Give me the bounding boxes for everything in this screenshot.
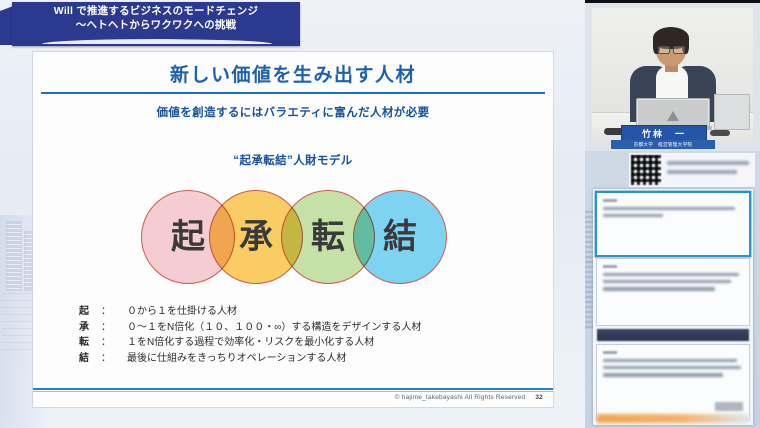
- qr-header-strip: [629, 153, 755, 187]
- session-title-line1: Will で推進するビジネスのモードチェンジ: [12, 4, 300, 18]
- bullet-row: 承 ： ０～１をN倍化（１０、１００・∞）する構造をデザインする人材: [79, 320, 539, 336]
- bullet-separator: ：: [101, 335, 127, 351]
- blurred-text-line: [603, 207, 735, 210]
- shared-document-panel[interactable]: [585, 151, 760, 428]
- bullet-row: 起 ： ０から１を仕掛ける人材: [79, 304, 539, 320]
- bullet-key: 承: [79, 320, 101, 336]
- laptop-logo-icon: [667, 111, 679, 121]
- venn-circle-ketsu: 結: [353, 190, 447, 284]
- bullet-text: ０から１を仕掛ける人材: [127, 304, 539, 320]
- bullet-key: 結: [79, 351, 101, 367]
- speaker-video-tile[interactable]: 竹林 一 京都大学 経営管理大学院: [585, 3, 760, 151]
- venn-circle-label: 転: [311, 220, 345, 254]
- slide-title: 新しい価値を生み出す人材: [33, 60, 553, 87]
- speaker-eye-left: [658, 46, 670, 54]
- footer-divider-secondary: [33, 391, 553, 392]
- session-title-line2: ～ヘトヘトからワクワクへの挑戦: [12, 18, 300, 32]
- ribbon-text: Will で推進するビジネスのモードチェンジ ～ヘトヘトからワクワクへの挑戦: [12, 4, 300, 32]
- page-number: 32: [535, 394, 543, 401]
- slide-subtitle: 価値を創造するにはバラエティに富んだ人材が必要: [33, 104, 553, 120]
- speaker-affiliation: 京都大学 経営管理大学院: [634, 142, 693, 148]
- venn-circle-label: 承: [239, 220, 273, 254]
- note-card-selected[interactable]: [597, 193, 749, 255]
- panel-toolbar-blurred[interactable]: [597, 329, 749, 341]
- blurred-text-line: [603, 287, 715, 290]
- video-frame: [592, 8, 753, 141]
- bullet-key: 転: [79, 335, 101, 351]
- blurred-text-line: [603, 366, 741, 369]
- model-label: “起承転結”人財モデル: [33, 152, 553, 168]
- slide-card: 新しい価値を生み出す人材 価値を創造するにはバラエティに富んだ人材が必要 “起承…: [33, 52, 553, 407]
- bullet-row: 転 ： １をN倍化する過程で効率化・リスクを最小化する人材: [79, 335, 539, 351]
- blurred-label: [603, 265, 617, 268]
- speaker-name: 竹林 一: [642, 127, 686, 140]
- copyright-text: © hajime_takebayashi All Rights Reserved: [395, 394, 526, 401]
- qr-caption-blurred: [667, 161, 751, 179]
- qr-code-icon: [631, 155, 661, 185]
- bullet-text: １をN倍化する過程で効率化・リスクを最小化する人材: [127, 335, 539, 351]
- desk-cable-secondary: [710, 130, 730, 136]
- screen-root: Will で推進するビジネスのモードチェンジ ～ヘトヘトからワクワクへの挑戦 新…: [0, 0, 760, 428]
- blurred-text-line: [603, 373, 723, 376]
- title-divider: [41, 92, 545, 94]
- speaker-affiliation-banner: 京都大学 経営管理大学院: [611, 140, 715, 149]
- blurred-text-line: [603, 214, 663, 217]
- blurred-text-line: [603, 273, 739, 276]
- speaker-eye-right: [673, 46, 685, 54]
- panel-button-blurred[interactable]: [715, 402, 743, 411]
- bullet-separator: ：: [101, 320, 127, 336]
- blurred-text-line: [603, 280, 731, 283]
- bullet-text: ０～１をN倍化（１０、１００・∞）する構造をデザインする人材: [127, 320, 539, 336]
- bullet-text: 最後に仕組みをきっちりオペレーションする人材: [127, 351, 539, 367]
- slide-footer: © hajime_takebayashi All Rights Reserved…: [395, 394, 543, 401]
- blurred-text-line: [667, 161, 749, 165]
- blurred-label: [603, 351, 617, 354]
- session-title-ribbon: Will で推進するビジネスのモードチェンジ ～ヘトヘトからワクワクへの挑戦: [0, 2, 300, 46]
- blurred-text-line: [603, 359, 737, 362]
- bullet-separator: ：: [101, 304, 127, 320]
- blurred-label: [603, 199, 617, 202]
- external-monitor: [714, 94, 750, 130]
- right-panel: 竹林 一 京都大学 経営管理大学院: [585, 0, 760, 428]
- bullet-row: 結 ： 最後に仕組みをきっちりオペレーションする人材: [79, 351, 539, 367]
- bullet-key: 起: [79, 304, 101, 320]
- venn-diagram: 起 承 転 結: [141, 190, 449, 290]
- watermark-building: [6, 221, 22, 291]
- venn-circle-label: 結: [383, 220, 417, 254]
- presentation-slide: Will で推進するビジネスのモードチェンジ ～ヘトヘトからワクワクへの挑戦 新…: [0, 0, 585, 428]
- blurred-text-line: [667, 170, 737, 174]
- venn-circle-label: 起: [171, 220, 205, 254]
- bullet-separator: ：: [101, 351, 127, 367]
- panel-accent-bar: [597, 414, 749, 423]
- document-body: [593, 189, 753, 425]
- note-card[interactable]: [597, 259, 749, 325]
- bullet-list: 起 ： ０から１を仕掛ける人材 承 ： ０～１をN倍化（１０、１００・∞）する構…: [79, 304, 539, 366]
